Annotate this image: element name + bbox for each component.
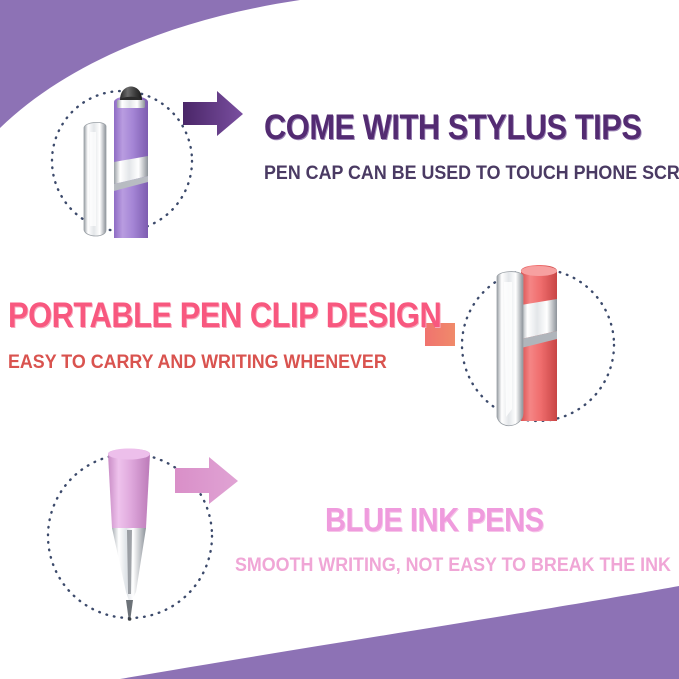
feature-ink-headline: BLUE INK PENS: [325, 503, 654, 536]
pen-grip-barrel: [108, 449, 150, 528]
feature-clip-text: PORTABLE PEN CLIP DESIGN EASY TO CARRY A…: [8, 298, 500, 372]
barrel-top-ellipse: [521, 266, 557, 276]
clip-highlight: [90, 132, 96, 226]
arrow-right-icon: [183, 91, 243, 136]
infographic-canvas: COME WITH STYLUS TIPS PEN CAP CAN BE USE…: [0, 0, 679, 679]
feature-clip-headline: PORTABLE PEN CLIP DESIGN: [8, 298, 441, 333]
tip-metal-collar: [117, 100, 145, 108]
feature-clip-subline: EASY TO CARRY AND WRITING WHENEVER: [8, 353, 471, 372]
ball-point: [128, 617, 132, 621]
ballpoint-tip: [126, 600, 133, 618]
barrel-top-ellipse: [108, 449, 150, 460]
feature-stylus-subline: PEN CAP CAN BE USED TO TOUCH PHONE SCREE…: [264, 164, 679, 183]
feature-ink-subline: SMOOTH WRITING, NOT EASY TO BREAK THE IN…: [235, 556, 671, 575]
feature-ink-text: BLUE INK PENS SMOOTH WRITING, NOT EASY T…: [325, 503, 679, 575]
feature-stylus-headline: COME WITH STYLUS TIPS: [264, 110, 679, 145]
feature-stylus-text: COME WITH STYLUS TIPS PEN CAP CAN BE USE…: [264, 110, 679, 183]
stylus-illustration: [44, 58, 259, 268]
ink-illustration: [42, 432, 277, 637]
arrow-right-icon: [175, 457, 238, 504]
